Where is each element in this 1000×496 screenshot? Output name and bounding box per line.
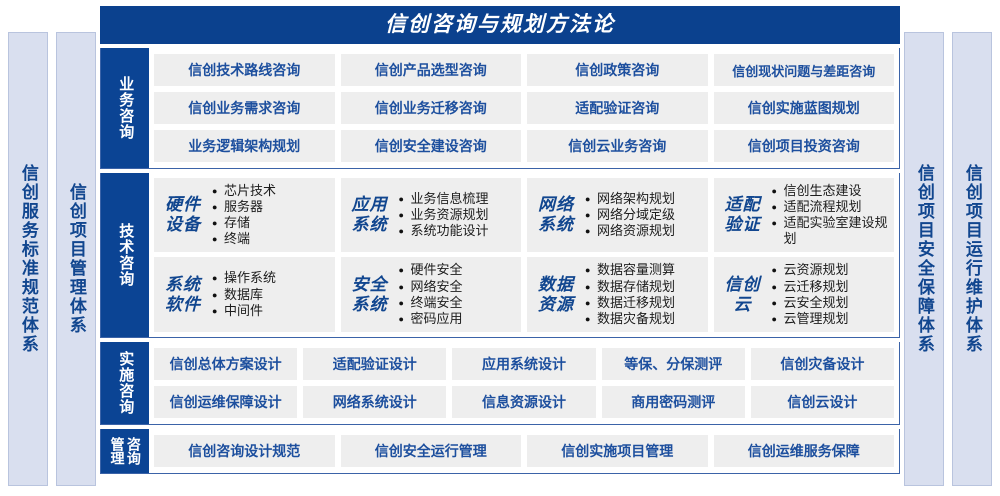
tech-card-title: 安全系统: [347, 275, 393, 315]
tech-card-application[interactable]: 应用系统 业务信息梳理 业务资源规划 系统功能设计: [341, 178, 522, 252]
tech-card-title: 适配验证: [720, 195, 766, 235]
list-item: 适配流程规划: [772, 199, 889, 215]
list-item: 数据存储规划: [585, 279, 702, 295]
tech-card-title: 应用系统: [347, 195, 393, 235]
chip-item[interactable]: 信创政策咨询: [527, 54, 708, 86]
list-item: 网络安全: [399, 279, 516, 295]
tech-card-list: 业务信息梳理 业务资源规划 系统功能设计: [399, 191, 516, 239]
chip-item[interactable]: 适配验证咨询: [527, 92, 708, 124]
chip-item[interactable]: 应用系统设计: [452, 348, 595, 380]
table-row: 信创技术路线咨询 信创产品选型咨询 信创政策咨询 信创现状问题与差距咨询: [154, 54, 894, 86]
tech-card-title: 硬件设备: [160, 195, 206, 235]
diagram-root: 信创服务标准规范体系 信创项目管理体系 信创咨询与规划方法论 业务咨询 信创技术…: [0, 0, 1000, 496]
tech-card-security[interactable]: 安全系统 硬件安全 网络安全 终端安全 密码应用: [341, 257, 522, 331]
chip-item[interactable]: 信创运维保障设计: [154, 386, 297, 418]
band-business-consulting: 业务咨询 信创技术路线咨询 信创产品选型咨询 信创政策咨询 信创现状问题与差距咨…: [100, 48, 900, 169]
list-item: 中间件: [212, 303, 329, 319]
list-item: 网络资源规划: [585, 223, 702, 239]
chip-item[interactable]: 信创云设计: [751, 386, 894, 418]
tech-card-adaptation[interactable]: 适配验证 信创生态建设 适配流程规划 适配实验室建设规划: [714, 178, 895, 252]
tech-card-network[interactable]: 网络系统 网络架构规划 网络分域定级 网络资源规划: [527, 178, 708, 252]
list-item: 终端: [212, 231, 329, 247]
band-label-technical-text: 技术咨询: [117, 223, 134, 287]
tech-card-list: 硬件安全 网络安全 终端安全 密码应用: [399, 262, 516, 326]
chip-item[interactable]: 信创项目投资咨询: [714, 130, 895, 162]
list-item: 网络分域定级: [585, 207, 702, 223]
list-item: 数据容量测算: [585, 262, 702, 278]
chip-item[interactable]: 信创咨询设计规范: [154, 435, 335, 467]
list-item: 业务信息梳理: [399, 191, 516, 207]
chip-item[interactable]: 信创现状问题与差距咨询: [714, 54, 895, 86]
table-row: 信创业务需求咨询 信创业务迁移咨询 适配验证咨询 信创实施蓝图规划: [154, 92, 894, 124]
pillar-service-standard: 信创服务标准规范体系: [8, 32, 48, 486]
list-item: 数据迁移规划: [585, 295, 702, 311]
chip-item[interactable]: 商用密码测评: [602, 386, 745, 418]
tech-card-list: 云资源规划 云迁移规划 云安全规划 云管理规划: [772, 262, 889, 326]
band-body-management: 信创咨询设计规范 信创安全运行管理 信创实施项目管理 信创运维服务保障: [149, 429, 899, 473]
tech-card-title: 数据资源: [533, 275, 579, 315]
chip-item[interactable]: 信创安全运行管理: [341, 435, 522, 467]
list-item: 数据灾备规划: [585, 311, 702, 327]
list-item: 终端安全: [399, 295, 516, 311]
band-label-business: 业务咨询: [101, 48, 149, 168]
table-row: 信创咨询设计规范 信创安全运行管理 信创实施项目管理 信创运维服务保障: [154, 435, 894, 467]
chip-item[interactable]: 网络系统设计: [303, 386, 446, 418]
chip-item[interactable]: 适配验证设计: [303, 348, 446, 380]
pillar-project-security: 信创项目安全保障体系: [904, 32, 944, 486]
tech-card-data-resource[interactable]: 数据资源 数据容量测算 数据存储规划 数据迁移规划 数据灾备规划: [527, 257, 708, 331]
list-item: 密码应用: [399, 311, 516, 327]
band-label-implementation: 实施咨询: [101, 342, 149, 424]
list-item: 服务器: [212, 199, 329, 215]
band-label-implementation-text: 实施咨询: [117, 351, 134, 415]
chip-item[interactable]: 信创业务迁移咨询: [341, 92, 522, 124]
list-item: 硬件安全: [399, 262, 516, 278]
list-item: 芯片技术: [212, 183, 329, 199]
chip-item[interactable]: 信创运维服务保障: [714, 435, 895, 467]
list-item: 系统功能设计: [399, 223, 516, 239]
chip-item[interactable]: 信创总体方案设计: [154, 348, 297, 380]
band-consulting-management: 咨询 管理 信创咨询设计规范 信创安全运行管理 信创实施项目管理 信创运维服务保…: [100, 429, 900, 474]
chip-item[interactable]: 信息资源设计: [452, 386, 595, 418]
pillar-service-standard-label: 信创服务标准规范体系: [19, 164, 37, 354]
table-row: 硬件设备 芯片技术 服务器 存储 终端 应用系统 业务信息梳理 业务资源规划: [154, 178, 894, 252]
band-label-management-text-1: 咨询: [126, 437, 141, 465]
tech-card-list: 网络架构规划 网络分域定级 网络资源规划: [585, 191, 702, 239]
chip-item[interactable]: 等保、分保测评: [602, 348, 745, 380]
band-label-technical: 技术咨询: [101, 173, 149, 337]
list-item: 网络架构规划: [585, 191, 702, 207]
chip-item[interactable]: 信创云业务咨询: [527, 130, 708, 162]
list-item: 云资源规划: [772, 262, 889, 278]
chip-item[interactable]: 信创灾备设计: [751, 348, 894, 380]
center-stack: 信创咨询与规划方法论 业务咨询 信创技术路线咨询 信创产品选型咨询 信创政策咨询…: [100, 6, 900, 492]
tech-card-title: 网络系统: [533, 195, 579, 235]
chip-item[interactable]: 信创安全建设咨询: [341, 130, 522, 162]
band-body-technical: 硬件设备 芯片技术 服务器 存储 终端 应用系统 业务信息梳理 业务资源规划: [149, 173, 899, 337]
tech-card-title: 系统软件: [160, 275, 206, 315]
pillar-project-management-label: 信创项目管理体系: [67, 183, 85, 335]
band-label-business-text: 业务咨询: [117, 76, 134, 140]
list-item: 业务资源规划: [399, 207, 516, 223]
tech-card-list: 数据容量测算 数据存储规划 数据迁移规划 数据灾备规划: [585, 262, 702, 326]
list-item: 云安全规划: [772, 295, 889, 311]
band-implementation-consulting: 实施咨询 信创总体方案设计 适配验证设计 应用系统设计 等保、分保测评 信创灾备…: [100, 342, 900, 425]
chip-item[interactable]: 信创产品选型咨询: [341, 54, 522, 86]
list-item: 操作系统: [212, 270, 329, 286]
tech-card-title: 信创云: [720, 275, 766, 315]
chip-item[interactable]: 信创实施蓝图规划: [714, 92, 895, 124]
list-item: 存储: [212, 215, 329, 231]
table-row: 业务逻辑架构规划 信创安全建设咨询 信创云业务咨询 信创项目投资咨询: [154, 130, 894, 162]
tech-card-system-software[interactable]: 系统软件 操作系统 数据库 中间件: [154, 257, 335, 331]
band-body-implementation: 信创总体方案设计 适配验证设计 应用系统设计 等保、分保测评 信创灾备设计 信创…: [149, 342, 899, 424]
chip-item[interactable]: 信创业务需求咨询: [154, 92, 335, 124]
band-label-management-text-2: 管理: [109, 437, 124, 465]
tech-card-hardware[interactable]: 硬件设备 芯片技术 服务器 存储 终端: [154, 178, 335, 252]
pillar-project-operations-label: 信创项目运行维护体系: [963, 164, 981, 354]
list-item: 云管理规划: [772, 311, 889, 327]
list-item: 适配实验室建设规划: [772, 215, 889, 247]
table-row: 信创总体方案设计 适配验证设计 应用系统设计 等保、分保测评 信创灾备设计: [154, 348, 894, 380]
pillar-project-management: 信创项目管理体系: [56, 32, 96, 486]
chip-item[interactable]: 业务逻辑架构规划: [154, 130, 335, 162]
tech-card-list: 操作系统 数据库 中间件: [212, 270, 329, 318]
tech-card-cloud[interactable]: 信创云 云资源规划 云迁移规划 云安全规划 云管理规划: [714, 257, 895, 331]
chip-item[interactable]: 信创实施项目管理: [527, 435, 708, 467]
tech-card-list: 信创生态建设 适配流程规划 适配实验室建设规划: [772, 183, 889, 247]
table-row: 系统软件 操作系统 数据库 中间件 安全系统 硬件安全 网络安全 终端安全: [154, 257, 894, 331]
chip-item[interactable]: 信创技术路线咨询: [154, 54, 335, 86]
band-body-business: 信创技术路线咨询 信创产品选型咨询 信创政策咨询 信创现状问题与差距咨询 信创业…: [149, 48, 899, 168]
band-label-management: 咨询 管理: [101, 429, 149, 473]
page-title: 信创咨询与规划方法论: [100, 6, 900, 44]
list-item: 信创生态建设: [772, 183, 889, 199]
list-item: 数据库: [212, 287, 329, 303]
list-item: 云迁移规划: [772, 279, 889, 295]
table-row: 信创运维保障设计 网络系统设计 信息资源设计 商用密码测评 信创云设计: [154, 386, 894, 418]
pillar-project-operations: 信创项目运行维护体系: [952, 32, 992, 486]
tech-card-list: 芯片技术 服务器 存储 终端: [212, 183, 329, 247]
band-technical-consulting: 技术咨询 硬件设备 芯片技术 服务器 存储 终端 应用系统: [100, 173, 900, 338]
pillar-project-security-label: 信创项目安全保障体系: [915, 164, 933, 354]
